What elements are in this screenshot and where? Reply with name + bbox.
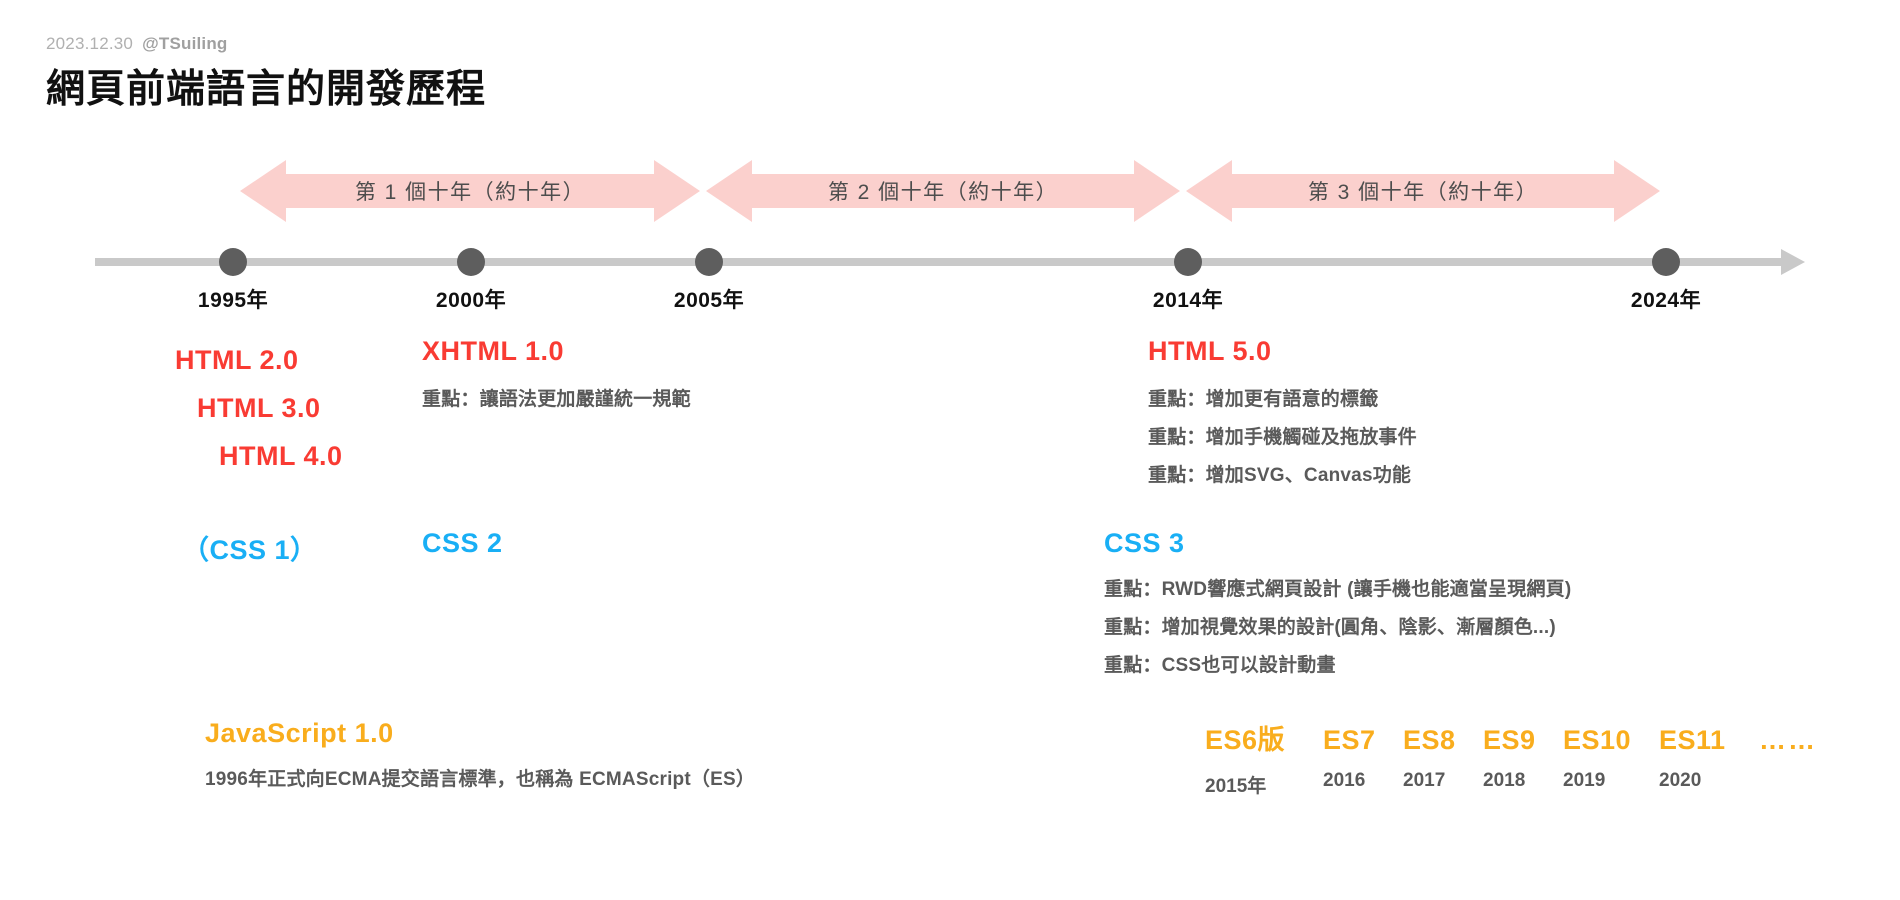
decade-arrow-3: 第 3 個十年（約十年） — [1186, 160, 1660, 222]
decade-arrow-2: 第 2 個十年（約十年） — [706, 160, 1180, 222]
html5-note-1: 重點：增加更有語意的標籤 — [1148, 381, 1417, 419]
xhtml-title: XHTML 1.0 — [422, 336, 691, 367]
publish-date: 2023.12.30 — [46, 34, 133, 53]
html5-block-2014: HTML 5.0 重點：增加更有語意的標籤 重點：增加手機觸碰及拖放事件 重點：… — [1148, 336, 1417, 495]
axis-dot-2014[interactable] — [1174, 248, 1202, 276]
axis-year-2000: 2000年 — [436, 284, 506, 314]
css2-block-2000: CSS 2 — [422, 528, 503, 559]
es-name-8: ES8 — [1403, 725, 1483, 756]
es-name-6: ES6版 — [1205, 718, 1323, 757]
axis-dot-2000[interactable] — [457, 248, 485, 276]
axis-dot-2005[interactable] — [695, 248, 723, 276]
page-header: 2023.12.30@TSuiling 網頁前端語言的開發歷程 — [46, 34, 486, 114]
es-ellipsis: …… — [1759, 725, 1817, 756]
javascript-title: JavaScript 1.0 — [205, 718, 755, 749]
es-year-10: 2019 — [1563, 770, 1659, 792]
es-item-more: …… — [1759, 725, 1817, 756]
javascript-note-1: 1996年正式向ECMA提交語言標準，也稱為 ECMAScript（ES） — [205, 761, 755, 799]
axis-year-1995: 1995年 — [198, 284, 268, 314]
axis-arrowhead-icon — [1781, 249, 1805, 275]
decade-label-3: 第 3 個十年（約十年） — [1308, 176, 1538, 206]
axis-dot-2024[interactable] — [1652, 248, 1680, 276]
es-year-7: 2016 — [1323, 770, 1403, 792]
css1-title: （CSS 1） — [182, 528, 318, 567]
page-title: 網頁前端語言的開發歷程 — [46, 58, 486, 114]
timeline-axis: 1995年 2000年 2005年 2014年 2024年 — [0, 244, 1900, 284]
css3-note-3: 重點：CSS也可以設計動畫 — [1104, 647, 1571, 685]
decade-label-1: 第 1 個十年（約十年） — [355, 176, 585, 206]
html-version-3: HTML 3.0 — [175, 384, 343, 432]
es-item-7: ES7 2016 — [1323, 725, 1403, 792]
es-versions-block: ES6版 2015年 ES7 2016 ES8 2017 ES9 2018 ES… — [1205, 718, 1817, 798]
decade-label-2: 第 2 個十年（約十年） — [828, 176, 1058, 206]
axis-dot-1995[interactable] — [219, 248, 247, 276]
es-year-11: 2020 — [1659, 770, 1759, 792]
es-year-6: 2015年 — [1205, 771, 1323, 798]
es-name-11: ES11 — [1659, 725, 1759, 756]
byline: 2023.12.30@TSuiling — [46, 34, 486, 54]
css2-title: CSS 2 — [422, 528, 503, 559]
axis-line — [95, 258, 1785, 266]
es-year-8: 2017 — [1403, 770, 1483, 792]
es-version-list: ES6版 2015年 ES7 2016 ES8 2017 ES9 2018 ES… — [1205, 718, 1817, 798]
es-item-10: ES10 2019 — [1563, 725, 1659, 792]
es-item-9: ES9 2018 — [1483, 725, 1563, 792]
html-versions-1995: HTML 2.0 HTML 3.0 HTML 4.0 — [175, 336, 343, 480]
es-item-8: ES8 2017 — [1403, 725, 1483, 792]
html5-note-3: 重點：增加SVG、Canvas功能 — [1148, 457, 1417, 495]
html-version-4: HTML 4.0 — [175, 432, 343, 480]
css3-note-1: 重點：RWD響應式網頁設計 (讓手機也能適當呈現網頁) — [1104, 571, 1571, 609]
xhtml-block-2000: XHTML 1.0 重點：讓語法更加嚴謹統一規範 — [422, 336, 691, 419]
css3-block-2014: CSS 3 重點：RWD響應式網頁設計 (讓手機也能適當呈現網頁) 重點：增加視… — [1104, 528, 1571, 685]
es-name-7: ES7 — [1323, 725, 1403, 756]
decade-arrow-1: 第 1 個十年（約十年） — [240, 160, 700, 222]
css3-title: CSS 3 — [1104, 528, 1571, 559]
javascript-block-1995: JavaScript 1.0 1996年正式向ECMA提交語言標準，也稱為 EC… — [205, 718, 755, 799]
es-name-10: ES10 — [1563, 725, 1659, 756]
xhtml-note-1: 重點：讓語法更加嚴謹統一規範 — [422, 381, 691, 419]
axis-year-2005: 2005年 — [674, 284, 744, 314]
es-name-9: ES9 — [1483, 725, 1563, 756]
author-handle: @TSuiling — [142, 34, 227, 53]
css3-note-2: 重點：增加視覺效果的設計(圓角、陰影、漸層顏色...) — [1104, 609, 1571, 647]
html5-title: HTML 5.0 — [1148, 336, 1417, 367]
es-year-9: 2018 — [1483, 770, 1563, 792]
html5-note-2: 重點：增加手機觸碰及拖放事件 — [1148, 419, 1417, 457]
css1-block-1995: （CSS 1） — [182, 528, 318, 567]
es-item-6: ES6版 2015年 — [1205, 718, 1323, 798]
es-item-11: ES11 2020 — [1659, 725, 1759, 792]
html-version-2: HTML 2.0 — [175, 336, 343, 384]
axis-year-2014: 2014年 — [1153, 284, 1223, 314]
decade-band: 第 1 個十年（約十年） 第 2 個十年（約十年） 第 3 個十年（約十年） — [0, 160, 1900, 222]
axis-year-2024: 2024年 — [1631, 284, 1701, 314]
